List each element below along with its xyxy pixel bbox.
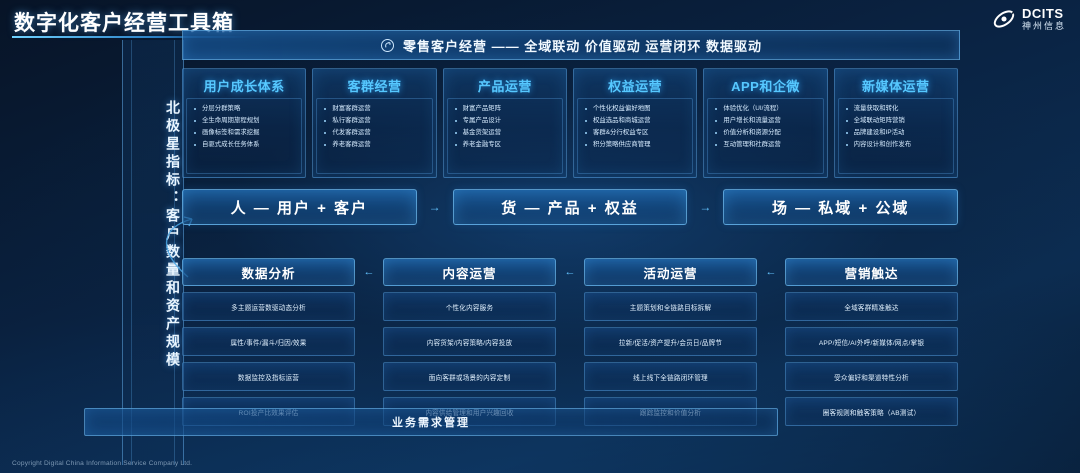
headline-banner: 零售客户经营 —— 全域联动 价值驱动 运营闭环 数据驱动	[182, 30, 960, 60]
list-item: 财富产品矩阵	[452, 103, 560, 115]
capability-cards: 用户成长体系 分层分群策略 全生命周期旅程规划 画像标签和需求挖掘 自驱式成长任…	[182, 68, 958, 178]
flow-cell[interactable]: 个性化内容服务	[383, 292, 556, 321]
list-item: 积分策略供应商管理	[582, 139, 690, 151]
card-title: APP和企微	[707, 72, 823, 98]
list-item: 个性化权益偏好地图	[582, 103, 690, 115]
card-body: 分层分群策略 全生命周期旅程规划 画像标签和需求挖掘 自驱式成长任务体系	[186, 98, 302, 174]
card-user-growth[interactable]: 用户成长体系 分层分群策略 全生命周期旅程规划 画像标签和需求挖掘 自驱式成长任…	[182, 68, 306, 178]
flow-cell[interactable]: 多主题运营数驱动态分析	[182, 292, 355, 321]
list-item: 代发客群运营	[321, 127, 429, 139]
card-app-wecom[interactable]: APP和企微 体验优化（UI/流程） 用户增长和流量运营 价值分析和资源分配 互…	[703, 68, 827, 178]
logo-text-en: DCITS	[1022, 7, 1066, 20]
list-item: 养老金融专区	[452, 139, 560, 151]
hgc-box-place[interactable]: 场 — 私域 + 公域	[723, 189, 958, 225]
list-item: 品牌建设和IP活动	[843, 127, 951, 139]
flow-header-marketing-reach[interactable]: 营销触达	[785, 258, 958, 286]
arrow-right-icon: →	[687, 200, 723, 214]
list-item: 内容设计和创作发布	[843, 139, 951, 151]
arrow-left-icon: ←	[757, 266, 785, 278]
list-item: 客群&分行权益专区	[582, 127, 690, 139]
flow-cell[interactable]: APP/短信/AI外呼/新媒体/网点/掌银	[785, 327, 958, 356]
card-benefits-ops[interactable]: 权益运营 个性化权益偏好地图 权益选品和商城运营 客群&分行权益专区 积分策略供…	[573, 68, 697, 178]
arrow-left-icon: ←	[556, 266, 584, 278]
flow-header-content-ops[interactable]: 内容运营	[383, 258, 556, 286]
business-demand-bar[interactable]: 业务需求管理	[84, 408, 778, 436]
flow-cell[interactable]: 面向客群或场景的内容定制	[383, 362, 556, 391]
card-body: 财富客群运营 私行客群运营 代发客群运营 养老客群运营	[316, 98, 432, 174]
card-body: 财富产品矩阵 专属产品设计 基金货架运营 养老金融专区	[447, 98, 563, 174]
card-title: 新媒体运营	[838, 72, 954, 98]
list-item: 体验优化（UI/流程）	[712, 103, 820, 115]
flow-column-content-ops: 个性化内容服务 内容货架/内容策略/内容投放 面向客群或场景的内容定制 内容供给…	[383, 292, 556, 426]
list-item: 用户增长和流量运营	[712, 115, 820, 127]
flow-cell[interactable]: 拉新/促活/资产提升/会员日/品牌节	[584, 327, 757, 356]
card-body: 流量获取和转化 全域联动矩阵营销 品牌建设和IP活动 内容设计和创作发布	[838, 98, 954, 174]
operations-loop: 数据分析 ← 内容运营 ← 活动运营 ← 营销触达 多主题运营数驱动态分析 属性…	[182, 258, 958, 426]
flow-cell[interactable]: 主题策划和全链路目标拆解	[584, 292, 757, 321]
card-title: 客群经营	[316, 72, 432, 98]
hgc-box-people[interactable]: 人 — 用户 + 客户	[182, 189, 417, 225]
operations-loop-grid: 多主题运营数驱动态分析 属性/事件/漏斗/归因/效果 数据监控及指标运营 ROI…	[182, 292, 958, 426]
card-title: 权益运营	[577, 72, 693, 98]
list-item: 自驱式成长任务体系	[191, 139, 299, 151]
list-item: 全生命周期旅程规划	[191, 115, 299, 127]
list-item: 私行客群运营	[321, 115, 429, 127]
operations-loop-headers: 数据分析 ← 内容运营 ← 活动运营 ← 营销触达	[182, 258, 958, 286]
list-item: 专属产品设计	[452, 115, 560, 127]
card-title: 用户成长体系	[186, 72, 302, 98]
flow-header-data-analysis[interactable]: 数据分析	[182, 258, 355, 286]
flow-column-marketing-reach: 全域客群精准触达 APP/短信/AI外呼/新媒体/网点/掌银 受众偏好和渠道特性…	[785, 292, 958, 426]
list-item: 权益选品和商城运营	[582, 115, 690, 127]
arrow-left-icon: ←	[355, 266, 383, 278]
card-new-media[interactable]: 新媒体运营 流量获取和转化 全域联动矩阵营销 品牌建设和IP活动 内容设计和创作…	[834, 68, 958, 178]
flow-cell[interactable]: 受众偏好和渠道特性分析	[785, 362, 958, 391]
flow-cell[interactable]: 数据监控及指标运营	[182, 362, 355, 391]
flow-column-campaign-ops: 主题策划和全链路目标拆解 拉新/促活/资产提升/会员日/品牌节 线上线下全链路闭…	[584, 292, 757, 426]
list-item: 画像标签和需求挖掘	[191, 127, 299, 139]
list-item: 互动管理和社群运营	[712, 139, 820, 151]
slide-root: 数字化客户经营工具箱 DCITS 神州信息 北极星指标：客户数量和资产规模 零售…	[0, 0, 1080, 473]
list-item: 财富客群运营	[321, 103, 429, 115]
card-customer-group[interactable]: 客群经营 财富客群运营 私行客群运营 代发客群运营 养老客群运营	[312, 68, 436, 178]
flow-cell[interactable]: 圈客规则和触客策略（AB测试）	[785, 397, 958, 426]
card-body: 体验优化（UI/流程） 用户增长和流量运营 价值分析和资源分配 互动管理和社群运…	[707, 98, 823, 174]
main-panel: 零售客户经营 —— 全域联动 价值驱动 运营闭环 数据驱动 用户成长体系 分层分…	[182, 30, 1068, 468]
list-item: 基金货架运营	[452, 127, 560, 139]
north-star-label: 北极星指标：客户数量和资产规模	[123, 100, 183, 430]
flow-cell[interactable]: 全域客群精准触达	[785, 292, 958, 321]
card-title: 产品运营	[447, 72, 563, 98]
card-product-ops[interactable]: 产品运营 财富产品矩阵 专属产品设计 基金货架运营 养老金融专区	[443, 68, 567, 178]
flow-column-data-analysis: 多主题运营数驱动态分析 属性/事件/漏斗/归因/效果 数据监控及指标运营 ROI…	[182, 292, 355, 426]
list-item: 养老客群运营	[321, 139, 429, 151]
flow-header-campaign-ops[interactable]: 活动运营	[584, 258, 757, 286]
card-body: 个性化权益偏好地图 权益选品和商城运营 客群&分行权益专区 积分策略供应商管理	[577, 98, 693, 174]
north-star-rail: 北极星指标：客户数量和资产规模	[122, 40, 184, 465]
list-item: 流量获取和转化	[843, 103, 951, 115]
flow-cell[interactable]: 属性/事件/漏斗/归因/效果	[182, 327, 355, 356]
hgc-box-goods[interactable]: 货 — 产品 + 权益	[453, 189, 688, 225]
flow-cell[interactable]: 线上线下全链路闭环管理	[584, 362, 757, 391]
swirl-icon	[380, 38, 395, 53]
copyright-text: Copyright Digital China Information Serv…	[12, 460, 192, 467]
swirl-logo-icon	[992, 7, 1016, 31]
arrow-right-icon: →	[417, 200, 453, 214]
list-item: 全域联动矩阵营销	[843, 115, 951, 127]
people-goods-place-row: 人 — 用户 + 客户 → 货 — 产品 + 权益 → 场 — 私域 + 公域	[182, 190, 958, 224]
list-item: 分层分群策略	[191, 103, 299, 115]
list-item: 价值分析和资源分配	[712, 127, 820, 139]
flow-cell[interactable]: 内容货架/内容策略/内容投放	[383, 327, 556, 356]
headline-text: 零售客户经营 —— 全域联动 价值驱动 运营闭环 数据驱动	[403, 36, 762, 55]
brand-logo: DCITS 神州信息	[992, 7, 1066, 31]
